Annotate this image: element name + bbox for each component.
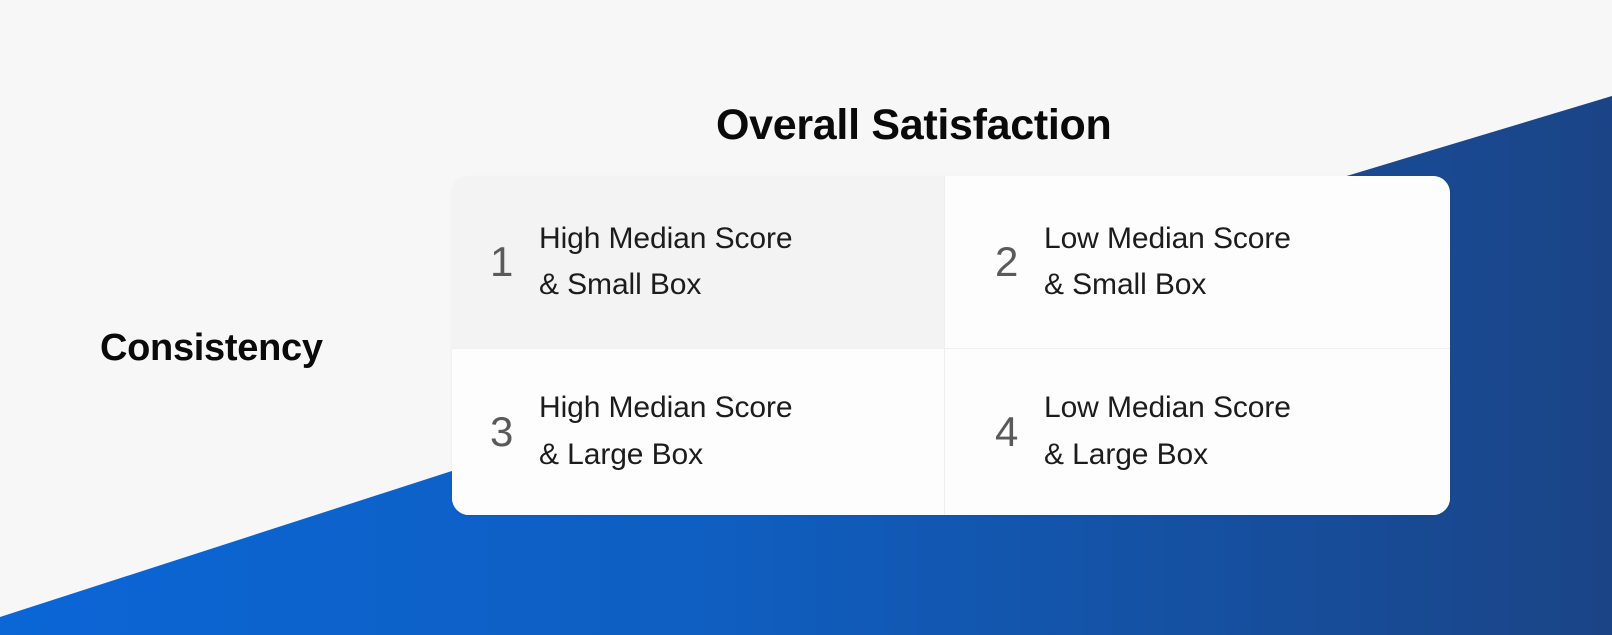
quadrant-label-4: Low Median Score & Large Box [1044,385,1291,478]
quadrant-label-3: High Median Score & Large Box [539,385,792,478]
quadrant-cell-1[interactable]: 1 High Median Score & Small Box [452,176,944,348]
quadrant-number-1: 1 [490,241,530,283]
quadrant-label-2: Low Median Score & Small Box [1044,216,1291,309]
quadrant-number-3: 3 [490,411,530,453]
quadrant-matrix: 1 High Median Score & Small Box 2 Low Me… [452,176,1450,515]
quadrant-cell-3[interactable]: 3 High Median Score & Large Box [452,348,944,515]
quadrant-cell-4[interactable]: 4 Low Median Score & Large Box [944,348,1450,515]
axis-label-vertical: Consistency [100,322,323,374]
quadrant-number-2: 2 [995,241,1035,283]
axis-label-horizontal: Overall Satisfaction [0,99,1612,151]
slide-canvas: Overall Satisfaction Consistency 1 High … [0,0,1612,635]
quadrant-number-4: 4 [995,411,1035,453]
quadrant-cell-2[interactable]: 2 Low Median Score & Small Box [944,176,1450,348]
quadrant-label-1: High Median Score & Small Box [539,216,792,309]
